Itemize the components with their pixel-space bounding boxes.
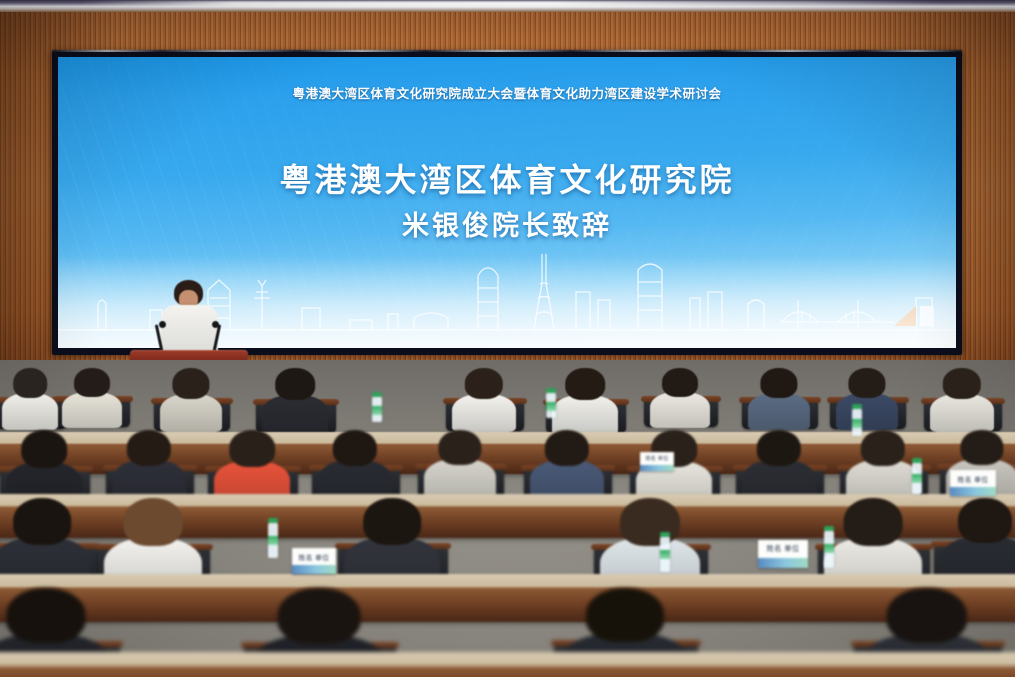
bottle-label (546, 402, 556, 411)
bottle-cap (660, 532, 670, 537)
bottle-label (660, 550, 670, 559)
name-card-band (950, 487, 996, 496)
water-bottle (660, 536, 670, 572)
audience-desk (0, 652, 1015, 677)
water-bottle (546, 392, 556, 418)
bottle-cap (852, 404, 862, 409)
bottle-cap (268, 518, 278, 523)
bottle-cap (824, 526, 834, 531)
audience-row (0, 0, 1015, 677)
water-bottle (852, 408, 862, 436)
name-card-band (758, 558, 808, 568)
bottle-cap (912, 458, 922, 463)
person-head (887, 588, 967, 643)
water-bottle (912, 462, 922, 494)
bottle-label (912, 474, 922, 483)
water-bottle (268, 522, 278, 558)
bottle-label (268, 536, 278, 545)
desk-name-card: 姓名 单位 (950, 470, 996, 496)
name-card-band (640, 465, 674, 471)
name-card-text: 姓名 单位 (950, 474, 996, 484)
name-card-text: 姓名 单位 (292, 552, 336, 562)
water-bottle (372, 396, 382, 422)
person-head (586, 588, 664, 642)
bottle-label (852, 419, 862, 428)
person-head (6, 588, 85, 643)
person-head (278, 588, 361, 644)
desk-name-card: 姓名 单位 (758, 540, 808, 568)
name-card-text: 姓名 单位 (640, 455, 674, 462)
desk-name-card: 姓名 单位 (640, 452, 674, 471)
bottle-label (824, 544, 834, 553)
bottle-label (372, 406, 382, 415)
desk-name-card: 姓名 单位 (292, 548, 336, 574)
bottle-cap (372, 392, 382, 397)
bottle-cap (546, 388, 556, 393)
name-card-text: 姓名 单位 (758, 544, 808, 554)
water-bottle (824, 530, 834, 568)
conference-photo: 粤港澳大湾区体育文化研究院成立大会暨体育文化助力湾区建设学术研讨会 粤港澳大湾区… (0, 0, 1015, 677)
name-card-band (292, 565, 336, 574)
